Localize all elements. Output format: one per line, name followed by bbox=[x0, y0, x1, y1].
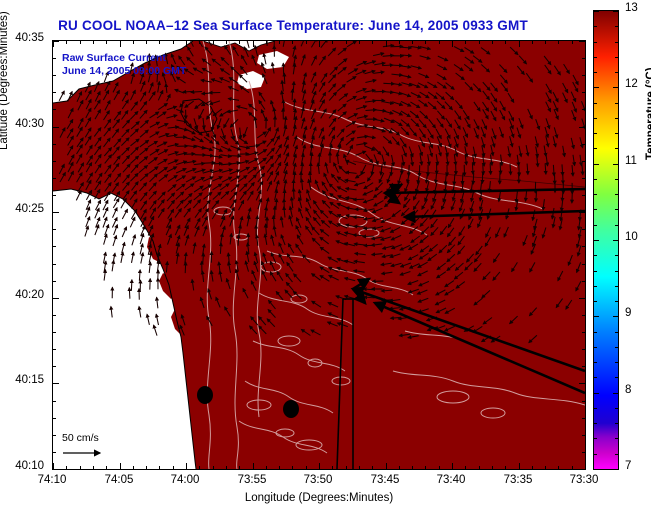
sst-field-svg bbox=[53, 41, 585, 469]
y-minor-tick bbox=[53, 58, 56, 59]
x-tick-label: 73:50 bbox=[288, 474, 348, 486]
colorbar-minor-tick bbox=[615, 72, 618, 73]
y-minor-tick bbox=[582, 58, 585, 59]
colorbar-minor-tick bbox=[594, 57, 597, 58]
x-tick bbox=[452, 463, 453, 469]
x-tick-label: 74:05 bbox=[89, 474, 149, 486]
y-tick bbox=[53, 212, 59, 213]
x-minor-tick bbox=[266, 41, 267, 44]
y-minor-tick bbox=[53, 366, 56, 367]
colorbar-minor-tick bbox=[594, 469, 597, 470]
colorbar-minor-tick bbox=[594, 377, 597, 378]
station-marker bbox=[197, 386, 213, 404]
colorbar-minor-tick bbox=[594, 362, 597, 363]
colorbar-minor-tick bbox=[615, 438, 618, 439]
x-tick bbox=[253, 463, 254, 469]
annotation-line-2: June 14, 2005 09:00 GMT bbox=[62, 65, 186, 78]
y-minor-tick bbox=[582, 401, 585, 402]
colorbar-minor-tick bbox=[615, 194, 618, 195]
current-vector bbox=[510, 164, 511, 175]
x-minor-tick bbox=[173, 466, 174, 469]
colorbar-minor-tick bbox=[594, 271, 597, 272]
y-tick bbox=[579, 127, 585, 128]
x-minor-tick bbox=[332, 41, 333, 44]
x-minor-tick bbox=[412, 466, 413, 469]
y-minor-tick bbox=[53, 435, 56, 436]
y-minor-tick bbox=[582, 435, 585, 436]
x-minor-tick bbox=[412, 41, 413, 44]
colorbar-minor-tick bbox=[615, 271, 618, 272]
colorbar-minor-tick bbox=[615, 423, 618, 424]
x-minor-tick bbox=[133, 41, 134, 44]
colorbar-minor-tick bbox=[594, 194, 597, 195]
y-minor-tick bbox=[582, 452, 585, 453]
colorbar bbox=[593, 10, 619, 470]
y-minor-tick bbox=[582, 161, 585, 162]
y-minor-tick bbox=[53, 264, 56, 265]
colorbar-minor-tick bbox=[594, 148, 597, 149]
x-minor-tick bbox=[159, 466, 160, 469]
colorbar-minor-tick bbox=[594, 209, 597, 210]
colorbar-minor-tick bbox=[594, 438, 597, 439]
current-vector bbox=[238, 235, 239, 246]
x-tick bbox=[386, 41, 387, 47]
colorbar-minor-tick bbox=[594, 26, 597, 27]
y-minor-tick bbox=[53, 195, 56, 196]
x-tick bbox=[519, 463, 520, 469]
y-minor-tick bbox=[53, 92, 56, 93]
colorbar-minor-tick bbox=[594, 255, 597, 256]
colorbar-minor-tick bbox=[615, 316, 618, 317]
x-tick bbox=[120, 41, 121, 47]
colorbar-minor-tick bbox=[615, 179, 618, 180]
colorbar-minor-tick bbox=[594, 408, 597, 409]
x-minor-tick bbox=[146, 466, 147, 469]
colorbar-minor-tick bbox=[615, 377, 618, 378]
colorbar-minor-tick bbox=[615, 393, 618, 394]
y-minor-tick bbox=[53, 178, 56, 179]
y-tick-label: 40:25 bbox=[0, 203, 44, 215]
x-minor-tick bbox=[439, 41, 440, 44]
x-minor-tick bbox=[532, 41, 533, 44]
scale-bar-arrow-icon bbox=[62, 447, 108, 459]
y-tick-label: 40:15 bbox=[0, 374, 44, 386]
x-minor-tick bbox=[479, 466, 480, 469]
x-minor-tick bbox=[66, 466, 67, 469]
x-minor-tick bbox=[239, 41, 240, 44]
x-minor-tick bbox=[492, 466, 493, 469]
y-minor-tick bbox=[582, 418, 585, 419]
y-tick bbox=[579, 212, 585, 213]
colorbar-minor-tick bbox=[615, 57, 618, 58]
current-vector bbox=[129, 288, 130, 299]
colorbar-minor-tick bbox=[594, 423, 597, 424]
x-minor-tick bbox=[372, 466, 373, 469]
colorbar-minor-tick bbox=[615, 332, 618, 333]
x-minor-tick bbox=[399, 41, 400, 44]
x-tick bbox=[319, 463, 320, 469]
colorbar-minor-tick bbox=[594, 42, 597, 43]
x-minor-tick bbox=[226, 41, 227, 44]
colorbar-minor-tick bbox=[594, 11, 597, 12]
annotation-block: Raw Surface Current June 14, 2005 09:00 … bbox=[62, 52, 186, 78]
x-minor-tick bbox=[439, 466, 440, 469]
x-minor-tick bbox=[492, 41, 493, 44]
x-minor-tick bbox=[332, 466, 333, 469]
x-tick bbox=[53, 463, 54, 469]
sst-plot bbox=[52, 40, 586, 470]
current-vector bbox=[220, 243, 221, 254]
x-minor-tick bbox=[505, 41, 506, 44]
x-tick bbox=[519, 41, 520, 47]
x-minor-tick bbox=[425, 41, 426, 44]
x-tick-label: 74:10 bbox=[22, 474, 82, 486]
current-vector bbox=[562, 190, 563, 201]
current-vector bbox=[473, 173, 474, 184]
x-minor-tick bbox=[572, 41, 573, 44]
x-minor-tick bbox=[359, 466, 360, 469]
x-minor-tick bbox=[399, 466, 400, 469]
y-minor-tick bbox=[53, 418, 56, 419]
y-minor-tick bbox=[582, 92, 585, 93]
colorbar-minor-tick bbox=[615, 164, 618, 165]
x-tick-label: 73:40 bbox=[421, 474, 481, 486]
y-minor-tick bbox=[53, 452, 56, 453]
colorbar-tick-label: 9 bbox=[625, 307, 631, 319]
y-minor-tick bbox=[582, 264, 585, 265]
x-minor-tick bbox=[532, 466, 533, 469]
x-tick-label: 73:45 bbox=[355, 474, 415, 486]
x-minor-tick bbox=[159, 41, 160, 44]
colorbar-minor-tick bbox=[615, 26, 618, 27]
x-tick-label: 74:00 bbox=[155, 474, 215, 486]
colorbar-tick-label: 8 bbox=[625, 384, 631, 396]
current-vector bbox=[319, 153, 320, 164]
x-minor-tick bbox=[545, 466, 546, 469]
x-minor-tick bbox=[93, 466, 94, 469]
station-marker bbox=[283, 400, 299, 418]
page-title: RU COOL NOAA–12 Sea Surface Temperature:… bbox=[0, 18, 586, 33]
y-minor-tick bbox=[53, 332, 56, 333]
x-tick bbox=[186, 41, 187, 47]
colorbar-minor-tick bbox=[615, 301, 618, 302]
colorbar-minor-tick bbox=[615, 255, 618, 256]
colorbar-minor-tick bbox=[594, 347, 597, 348]
y-minor-tick bbox=[53, 75, 56, 76]
colorbar-minor-tick bbox=[615, 469, 618, 470]
x-minor-tick bbox=[292, 466, 293, 469]
current-vector bbox=[472, 163, 473, 174]
y-minor-tick bbox=[53, 229, 56, 230]
current-vector bbox=[185, 262, 186, 273]
x-tick-label: 73:55 bbox=[222, 474, 282, 486]
x-minor-tick bbox=[346, 466, 347, 469]
colorbar-minor-tick bbox=[615, 347, 618, 348]
y-minor-tick bbox=[582, 229, 585, 230]
current-vector bbox=[500, 163, 501, 174]
x-minor-tick bbox=[266, 466, 267, 469]
x-minor-tick bbox=[465, 41, 466, 44]
x-minor-tick bbox=[306, 41, 307, 44]
current-vector bbox=[292, 89, 293, 100]
x-minor-tick bbox=[306, 466, 307, 469]
x-minor-tick bbox=[80, 41, 81, 44]
x-tick bbox=[386, 463, 387, 469]
colorbar-minor-tick bbox=[594, 87, 597, 88]
colorbar-minor-tick bbox=[615, 103, 618, 104]
x-tick bbox=[186, 463, 187, 469]
y-minor-tick bbox=[582, 246, 585, 247]
x-minor-tick bbox=[292, 41, 293, 44]
x-minor-tick bbox=[146, 41, 147, 44]
y-minor-tick bbox=[53, 401, 56, 402]
y-minor-tick bbox=[582, 109, 585, 110]
x-minor-tick bbox=[213, 41, 214, 44]
y-minor-tick bbox=[582, 144, 585, 145]
colorbar-minor-tick bbox=[594, 164, 597, 165]
y-minor-tick bbox=[53, 281, 56, 282]
y-minor-tick bbox=[582, 315, 585, 316]
x-tick bbox=[319, 41, 320, 47]
y-minor-tick bbox=[582, 195, 585, 196]
colorbar-minor-tick bbox=[594, 286, 597, 287]
x-minor-tick bbox=[479, 41, 480, 44]
current-vector bbox=[353, 199, 364, 200]
y-minor-tick bbox=[53, 315, 56, 316]
x-minor-tick bbox=[558, 466, 559, 469]
x-tick bbox=[120, 463, 121, 469]
x-minor-tick bbox=[93, 41, 94, 44]
colorbar-tick-label: 12 bbox=[625, 78, 638, 90]
current-vector bbox=[553, 165, 554, 176]
sst-plot-canvas bbox=[53, 41, 585, 469]
current-vector bbox=[131, 280, 132, 291]
y-tick bbox=[579, 383, 585, 384]
colorbar-minor-tick bbox=[615, 408, 618, 409]
x-minor-tick bbox=[213, 466, 214, 469]
x-minor-tick bbox=[558, 41, 559, 44]
current-vector bbox=[354, 226, 365, 227]
colorbar-minor-tick bbox=[615, 209, 618, 210]
colorbar-minor-tick bbox=[594, 454, 597, 455]
colorbar-minor-tick bbox=[615, 362, 618, 363]
colorbar-minor-tick bbox=[594, 316, 597, 317]
scale-bar: 50 cm/s bbox=[62, 432, 108, 459]
current-vector bbox=[184, 154, 195, 155]
colorbar-tick-label: 13 bbox=[625, 2, 638, 14]
x-minor-tick bbox=[372, 41, 373, 44]
y-minor-tick bbox=[582, 281, 585, 282]
scale-bar-label: 50 cm/s bbox=[62, 432, 108, 444]
colorbar-minor-tick bbox=[615, 87, 618, 88]
colorbar-minor-tick bbox=[594, 103, 597, 104]
colorbar-minor-tick bbox=[594, 393, 597, 394]
colorbar-title: Temperature (°C) bbox=[645, 67, 651, 160]
x-minor-tick bbox=[133, 466, 134, 469]
y-axis-title: Latitude (Degrees:Minutes) bbox=[0, 11, 10, 150]
colorbar-minor-tick bbox=[615, 286, 618, 287]
colorbar-minor-tick bbox=[615, 240, 618, 241]
colorbar-minor-tick bbox=[615, 454, 618, 455]
x-minor-tick bbox=[465, 466, 466, 469]
x-tick bbox=[452, 41, 453, 47]
current-vector bbox=[191, 92, 202, 93]
y-minor-tick bbox=[582, 178, 585, 179]
x-tick bbox=[253, 41, 254, 47]
colorbar-minor-tick bbox=[615, 42, 618, 43]
x-minor-tick bbox=[199, 41, 200, 44]
current-vector bbox=[204, 163, 215, 164]
colorbar-minor-tick bbox=[615, 148, 618, 149]
current-vector bbox=[139, 270, 140, 281]
x-minor-tick bbox=[239, 466, 240, 469]
x-minor-tick bbox=[279, 466, 280, 469]
y-minor-tick bbox=[53, 144, 56, 145]
colorbar-tick-label: 7 bbox=[625, 460, 631, 472]
x-minor-tick bbox=[279, 41, 280, 44]
x-axis-title: Longitude (Degrees:Minutes) bbox=[52, 492, 586, 504]
current-vector bbox=[294, 188, 295, 199]
x-minor-tick bbox=[545, 41, 546, 44]
x-minor-tick bbox=[173, 41, 174, 44]
colorbar-minor-tick bbox=[594, 332, 597, 333]
x-minor-tick bbox=[106, 466, 107, 469]
y-minor-tick bbox=[582, 366, 585, 367]
current-vector bbox=[365, 127, 376, 128]
y-tick-label: 40:10 bbox=[0, 460, 44, 472]
colorbar-minor-tick bbox=[594, 301, 597, 302]
y-minor-tick bbox=[53, 161, 56, 162]
colorbar-minor-tick bbox=[594, 225, 597, 226]
y-minor-tick bbox=[53, 349, 56, 350]
x-minor-tick bbox=[359, 41, 360, 44]
colorbar-minor-tick bbox=[594, 118, 597, 119]
colorbar-tick-label: 10 bbox=[625, 231, 638, 243]
colorbar-minor-tick bbox=[594, 133, 597, 134]
y-minor-tick bbox=[582, 349, 585, 350]
x-minor-tick bbox=[80, 466, 81, 469]
annotation-line-1: Raw Surface Current bbox=[62, 52, 186, 65]
x-minor-tick bbox=[425, 466, 426, 469]
x-minor-tick bbox=[505, 466, 506, 469]
y-tick bbox=[53, 127, 59, 128]
y-tick bbox=[579, 298, 585, 299]
x-minor-tick bbox=[572, 466, 573, 469]
current-vector bbox=[284, 73, 285, 84]
x-minor-tick bbox=[346, 41, 347, 44]
x-minor-tick bbox=[106, 41, 107, 44]
colorbar-minor-tick bbox=[594, 240, 597, 241]
x-minor-tick bbox=[199, 466, 200, 469]
colorbar-minor-tick bbox=[615, 133, 618, 134]
current-vector bbox=[363, 236, 374, 237]
y-tick-label: 40:20 bbox=[0, 289, 44, 301]
current-vector bbox=[230, 156, 241, 157]
colorbar-tick-label: 11 bbox=[625, 155, 637, 167]
colorbar-minor-tick bbox=[594, 72, 597, 73]
x-tick-label: 73:30 bbox=[554, 474, 614, 486]
colorbar-minor-tick bbox=[615, 11, 618, 12]
current-vector bbox=[490, 164, 491, 175]
x-minor-tick bbox=[66, 41, 67, 44]
colorbar-minor-tick bbox=[615, 225, 618, 226]
x-minor-tick bbox=[226, 466, 227, 469]
colorbar-minor-tick bbox=[594, 179, 597, 180]
colorbar-minor-tick bbox=[615, 118, 618, 119]
x-tick bbox=[53, 41, 54, 47]
x-tick-label: 73:35 bbox=[488, 474, 548, 486]
y-minor-tick bbox=[53, 246, 56, 247]
y-minor-tick bbox=[582, 75, 585, 76]
y-tick bbox=[53, 383, 59, 384]
y-tick bbox=[53, 298, 59, 299]
y-minor-tick bbox=[582, 332, 585, 333]
y-minor-tick bbox=[53, 109, 56, 110]
